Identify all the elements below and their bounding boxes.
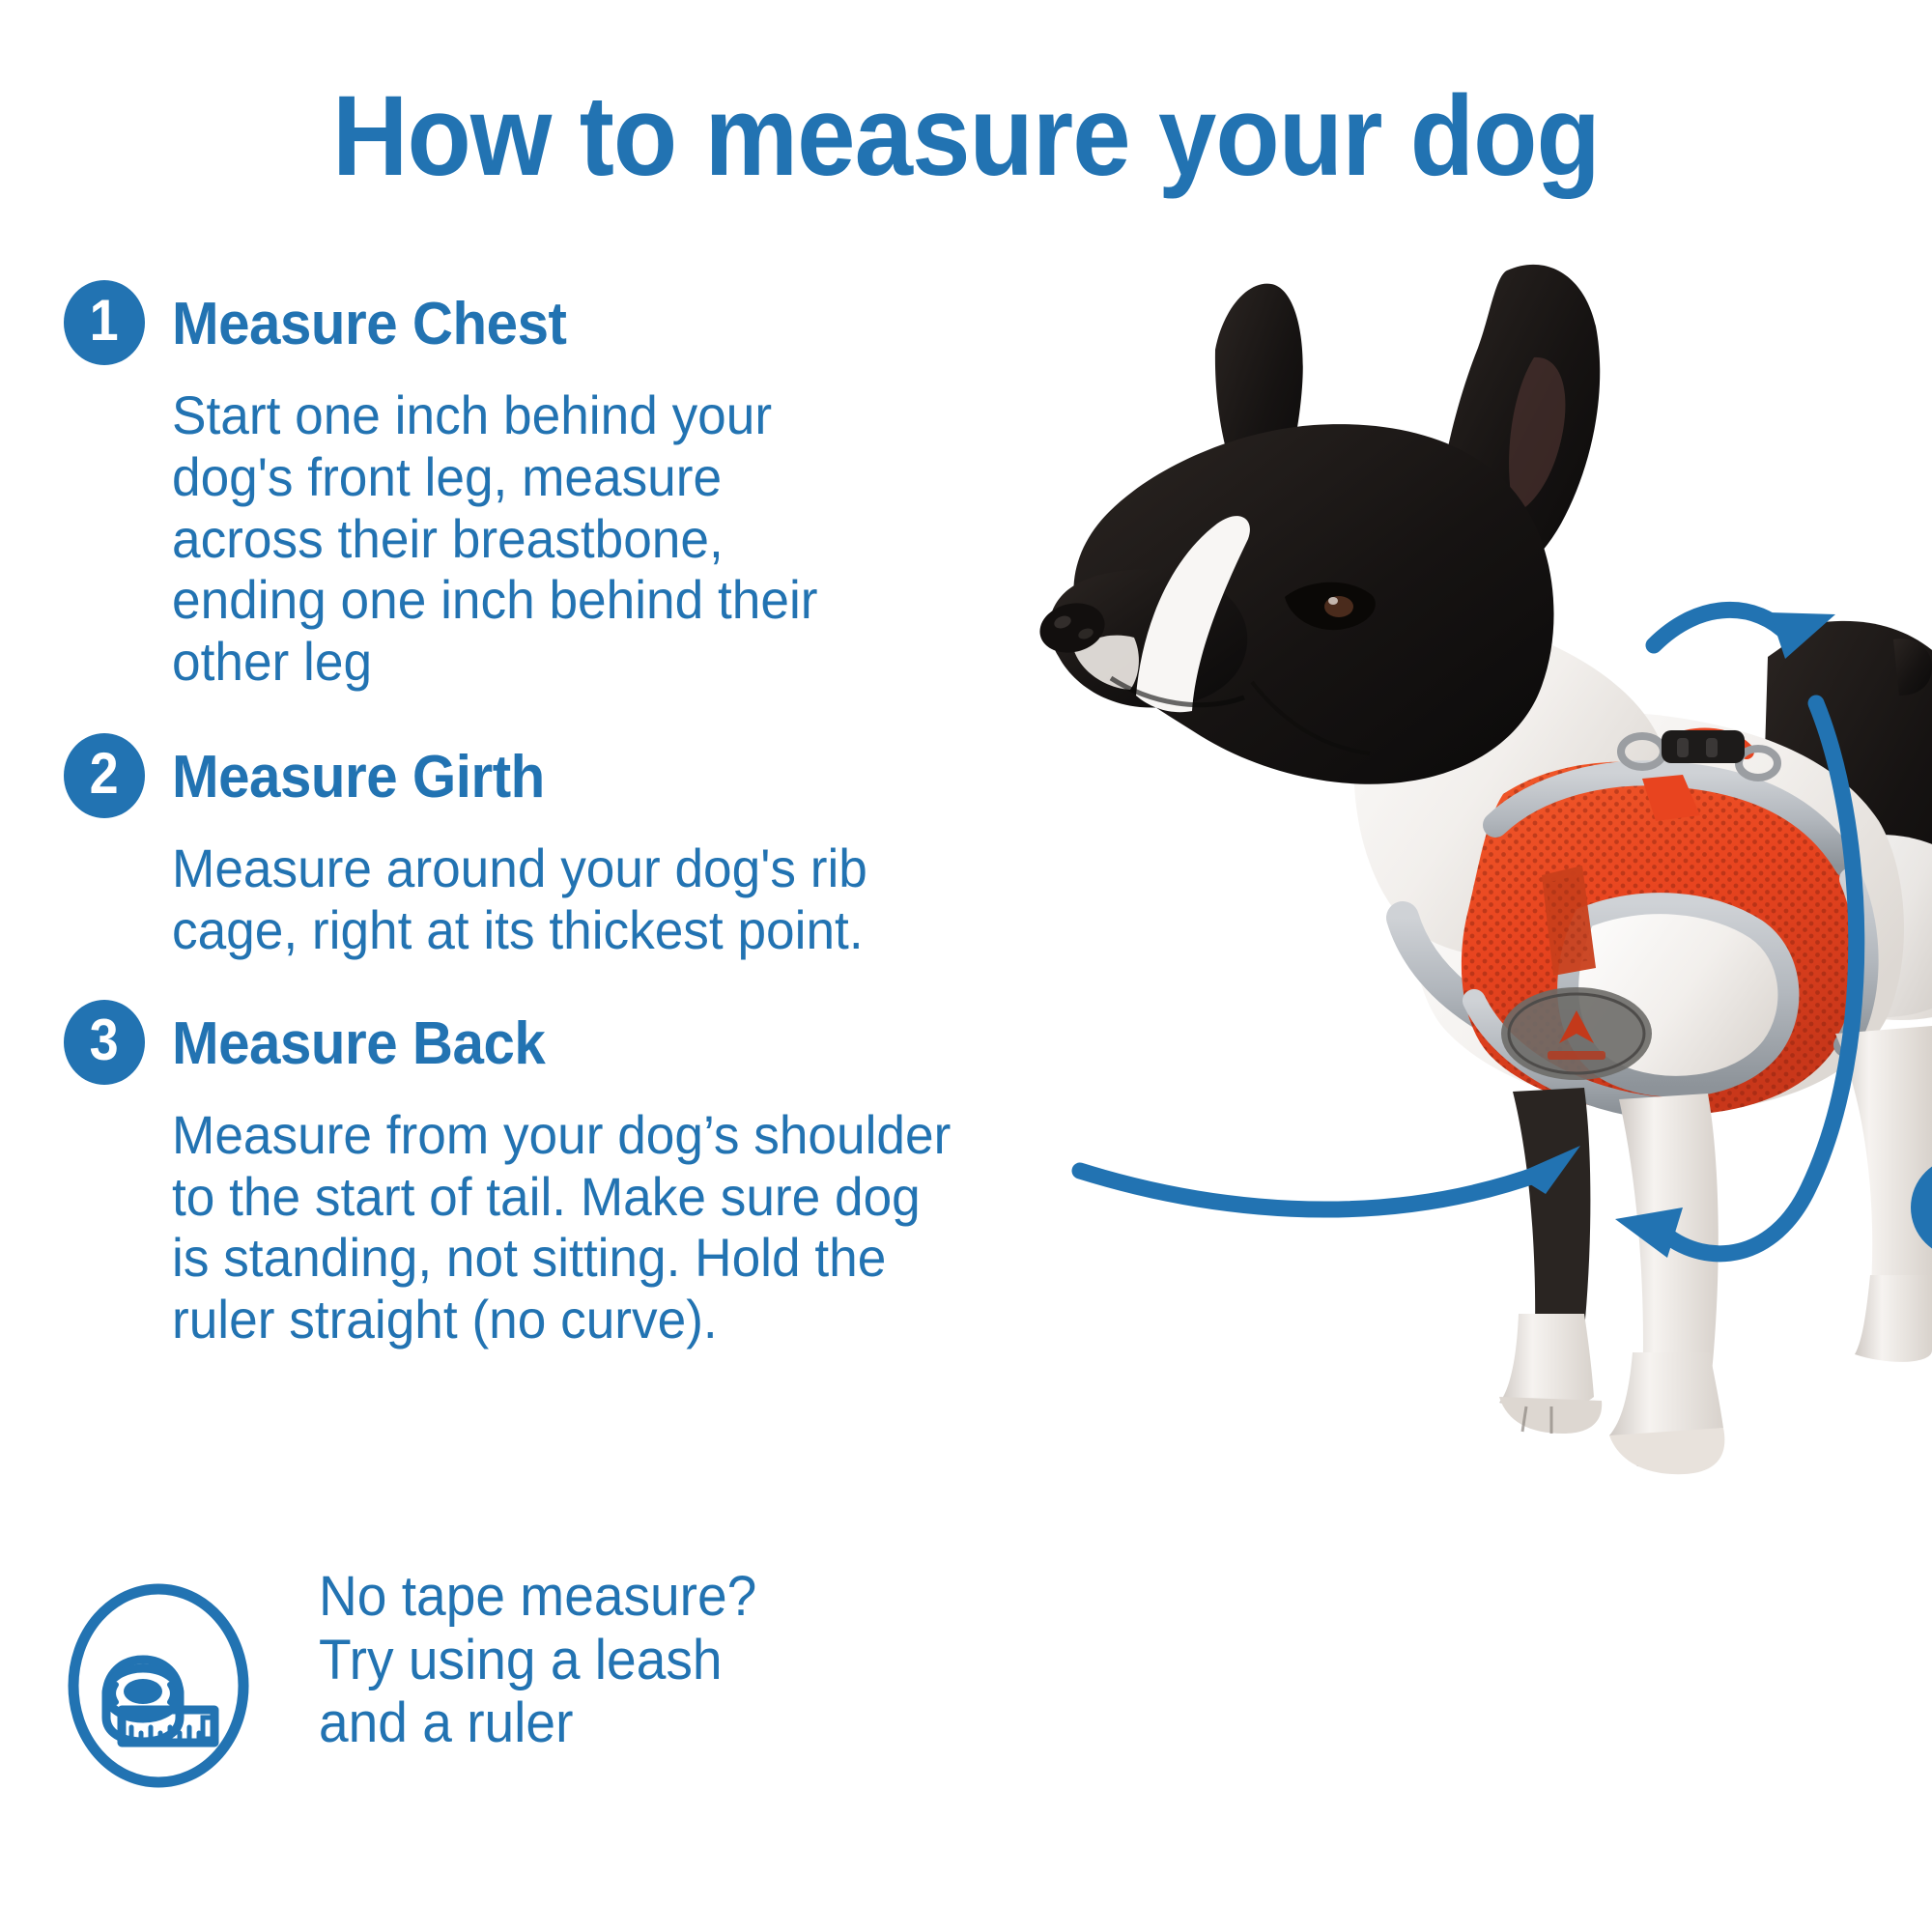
step-3-header: 3 Measure Back <box>0 1000 1053 1093</box>
step-3-number: 3 <box>90 1011 119 1069</box>
step-2-title: Measure Girth <box>172 743 545 811</box>
dog-illustration <box>966 241 1932 1642</box>
harness-buckle <box>1662 730 1745 763</box>
step-3-number-badge: 3 <box>64 1000 145 1085</box>
chest-measure-arrow <box>1080 1171 1542 1209</box>
tip-text: No tape measure? Try using a leash and a… <box>319 1565 756 1755</box>
step-2-measure-girth: 2 Measure Girth Measure around your dog'… <box>0 733 1053 961</box>
step-2-header: 2 Measure Girth <box>0 733 1053 826</box>
girth-measure-arrow-top <box>1654 610 1789 645</box>
step-3-measure-back: 3 Measure Back Measure from your dog’s s… <box>0 1000 1053 1350</box>
step-3-title: Measure Back <box>172 1009 545 1078</box>
step-1-measure-chest: 1 Measure Chest Start one inch behind yo… <box>0 280 1053 693</box>
step-1-title: Measure Chest <box>172 290 566 358</box>
tip-block: No tape measure? Try using a leash and a… <box>0 1565 1063 1855</box>
step-1-body: Start one inch behind your dog's front l… <box>172 384 1009 693</box>
infographic-page: How to measure your dog 1 Measure Chest … <box>0 0 1932 1932</box>
step-2-body: Measure around your dog's rib cage, righ… <box>172 838 1009 961</box>
step-2-number: 2 <box>90 745 119 803</box>
page-title: How to measure your dog <box>77 79 1855 193</box>
step-1-header: 1 Measure Chest <box>0 280 1053 373</box>
step-2-number-badge: 2 <box>64 733 145 818</box>
step-3-body: Measure from your dog’s shoulder to the … <box>172 1104 1009 1350</box>
dog-photo: 1 2 <box>966 241 1932 1642</box>
step-1-number-badge: 1 <box>64 280 145 365</box>
instructions-column: 1 Measure Chest Start one inch behind yo… <box>0 280 1053 1350</box>
tape-measure-icon <box>62 1582 255 1790</box>
step-1-number: 1 <box>90 292 119 350</box>
